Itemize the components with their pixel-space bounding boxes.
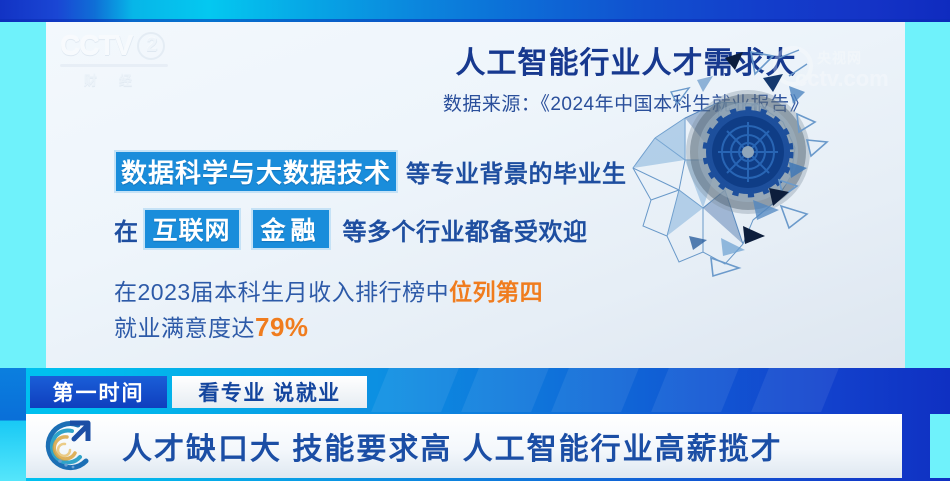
major-chip: 数据科学与大数据技术 (114, 150, 398, 193)
banner-left-accent (0, 368, 26, 481)
cctv2-channel-logo: CCTV 2 财 经 (60, 30, 180, 92)
cctv-logo-row: CCTV 2 (60, 30, 180, 62)
cctv-logo-text: CCTV (60, 30, 132, 62)
banner-facet (651, 368, 739, 412)
copy-line-2-prefix: 在 (114, 212, 139, 247)
ticker-headline: 人才缺口大 技能要求高 人工智能行业高薪揽才 (122, 424, 783, 468)
cctv-logo-cn-1: 财 (84, 70, 97, 89)
content-panel: CCTV 2 财 经 人工智能行业人才需求大 数据来源：《2024年中国本科生就… (46, 22, 905, 368)
top-gradient-bar (0, 0, 950, 22)
cctv-logo-number: 2 (137, 32, 165, 60)
copy-line-4: 就业满意度达79% (114, 309, 714, 347)
copy-line-3-text: 在2023届本科生月收入排行榜中 (114, 279, 449, 305)
copy-line-4-text: 就业满意度达 (114, 315, 255, 341)
satisfaction-highlight: 79% (255, 312, 309, 342)
banner-facet (371, 368, 459, 412)
cctv-logo-cn-label: 财 经 (60, 70, 180, 89)
program-tag: 第一时间 (30, 376, 167, 408)
industry-chip-internet: 互联网 (143, 208, 241, 250)
right-cyan-rail (905, 22, 950, 368)
broadcast-graphic-stage: CCTV 2 财 经 人工智能行业人才需求大 数据来源：《2024年中国本科生就… (0, 0, 950, 481)
cctv-logo-cn-2: 经 (119, 70, 132, 89)
rank-highlight: 位列第四 (449, 279, 543, 305)
copy-line-2-rest: 等多个行业都备受欢迎 (343, 212, 588, 247)
left-cyan-rail (0, 22, 46, 368)
industry-chip-finance: 金融 (251, 208, 331, 250)
copy-line-3: 在2023届本科生月收入排行榜中位列第四 (114, 276, 714, 309)
circular-arrow-emblem-icon (26, 415, 122, 477)
banner-facet (461, 368, 549, 412)
news-ticker: 人才缺口大 技能要求高 人工智能行业高薪揽才 (26, 414, 902, 478)
cctv-logo-underline (60, 64, 168, 67)
banner-facet (751, 368, 839, 412)
ticker-right-cap (930, 414, 950, 478)
ai-head-gear-icon (593, 30, 893, 280)
segment-tag: 看专业 说就业 (172, 376, 367, 408)
banner-facet (551, 368, 639, 412)
